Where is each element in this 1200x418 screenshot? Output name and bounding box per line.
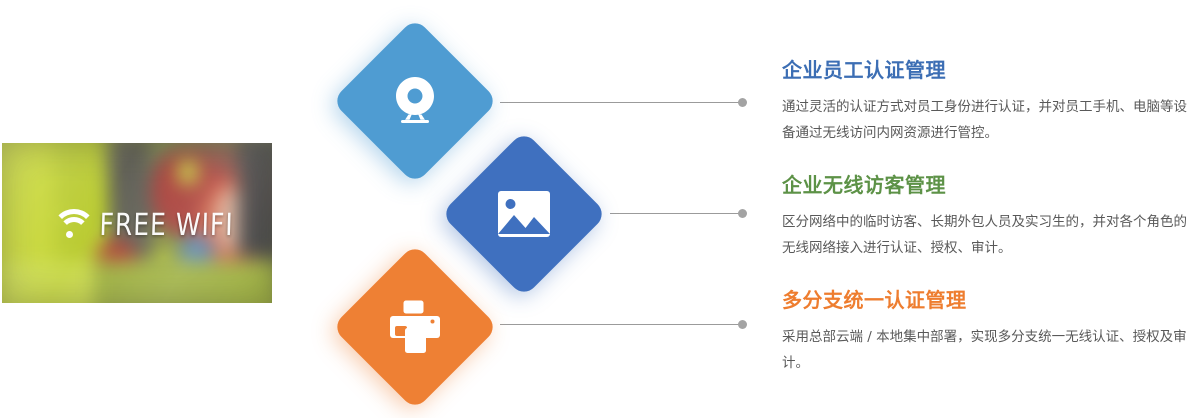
wifi-icon — [52, 209, 90, 239]
feature-body-1: 通过灵活的认证方式对员工身份进行认证，并对员工手机、电脑等设备通过无线访问内网资… — [782, 94, 1188, 146]
feature-body-3: 采用总部云端 / 本地集中部署，实现多分支统一无线认证、授权及审计。 — [782, 324, 1188, 376]
connector-dot-1 — [738, 98, 747, 107]
connector-line-1 — [500, 102, 743, 103]
feature-tile-guest-management[interactable] — [441, 131, 608, 298]
image-icon — [497, 190, 551, 238]
printer-icon — [387, 300, 443, 354]
connector-dot-2 — [738, 209, 747, 218]
feature-tile-multi-branch-auth[interactable] — [332, 244, 499, 411]
feature-showcase-section: FREE WIFI — [0, 0, 1200, 418]
photo-overlay-text: FREE WIFI — [99, 207, 234, 242]
feature-tile-employee-auth[interactable] — [332, 18, 499, 185]
feature-title-2: 企业无线访客管理 — [782, 173, 1188, 197]
feature-title-1: 企业员工认证管理 — [782, 58, 1188, 82]
free-wifi-photo: FREE WIFI — [2, 143, 272, 303]
feature-text-block-3: 多分支统一认证管理 采用总部云端 / 本地集中部署，实现多分支统一无线认证、授权… — [782, 288, 1188, 376]
connector-dot-3 — [738, 320, 747, 329]
webcam-icon — [387, 73, 443, 129]
feature-text-block-2: 企业无线访客管理 区分网络中的临时访客、长期外包人员及实习生的，并对各个角色的无… — [782, 173, 1188, 261]
connector-line-3 — [500, 324, 743, 325]
connector-line-2 — [610, 213, 743, 214]
feature-title-3: 多分支统一认证管理 — [782, 288, 1188, 312]
feature-text-block-1: 企业员工认证管理 通过灵活的认证方式对员工身份进行认证，并对员工手机、电脑等设备… — [782, 58, 1188, 146]
feature-body-2: 区分网络中的临时访客、长期外包人员及实习生的，并对各个角色的无线网络接入进行认证… — [782, 209, 1188, 261]
